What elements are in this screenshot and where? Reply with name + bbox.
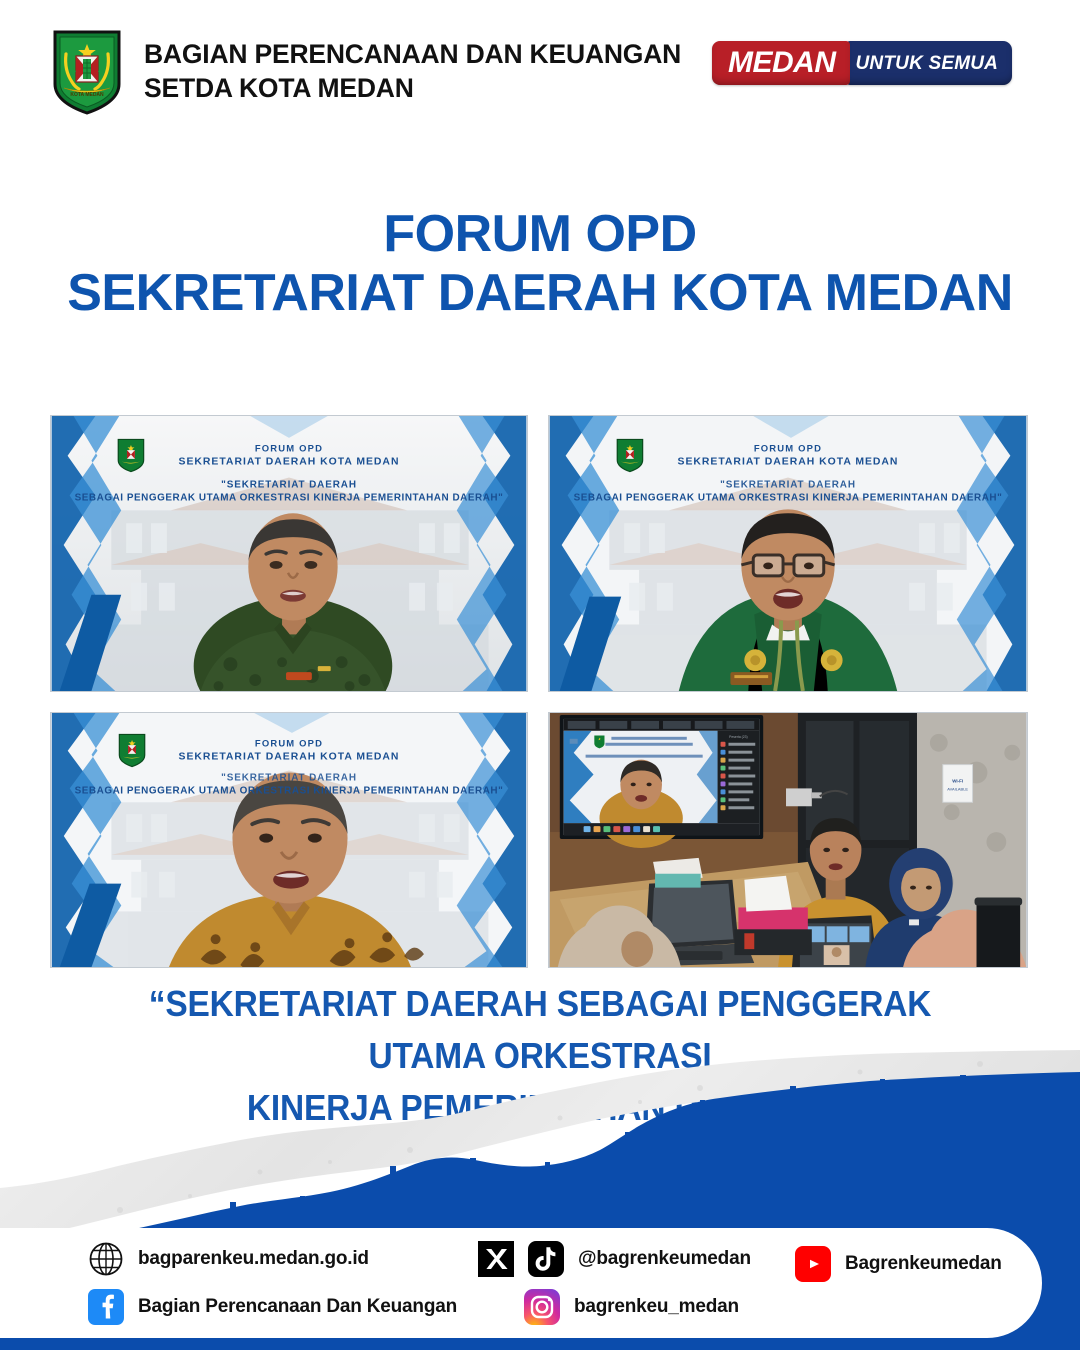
footer-facebook-row[interactable]: Bagian Perencanaan Dan Keuangan (88, 1283, 457, 1331)
photo-3-image: FORUM OPD SEKRETARIAT DAERAH KOTA MEDAN … (51, 713, 527, 967)
svg-text:KOTA MEDAN: KOTA MEDAN (70, 92, 104, 98)
brand-text: BAGIAN PERENCANAAN DAN KEUANGAN SETDA KO… (144, 38, 681, 106)
medan-logo-navy-text: UNTUK SEMUA (856, 54, 999, 73)
svg-text:WI-FI: WI-FI (952, 778, 963, 783)
svg-text:SEKRETARIAT DAERAH KOTA MEDAN: SEKRETARIAT DAERAH KOTA MEDAN (678, 457, 899, 468)
medan-city-crest-icon: KOTA MEDAN (50, 28, 124, 116)
svg-text:SEKRETARIAT DAERAH KOTA MEDAN: SEKRETARIAT DAERAH KOTA MEDAN (179, 752, 400, 763)
org-line-1: BAGIAN PERENCANAAN DAN KEUANGAN (144, 38, 681, 72)
footer-column-youtube: Bagrenkeumedan (795, 1228, 1002, 1338)
footer-youtube-row[interactable]: Bagrenkeumedan (795, 1240, 1002, 1288)
svg-text:SEBAGAI PENGGERAK UTAMA ORKEST: SEBAGAI PENGGERAK UTAMA ORKESTRASI KINER… (75, 785, 504, 796)
svg-text:FORUM OPD: FORUM OPD (255, 738, 323, 749)
photo-1-image: FORUM OPD SEKRETARIAT DAERAH KOTA MEDAN … (51, 416, 527, 691)
svg-text:"SEKRETARIAT DAERAH: "SEKRETARIAT DAERAH (221, 772, 357, 783)
facebook-icon (88, 1289, 124, 1325)
footer-column-web: bagparenkeu.medan.go.id Bagian Perencana… (88, 1228, 457, 1338)
medan-logo-navy-block: UNTUK SEMUA (846, 41, 1013, 85)
svg-text:SEBAGAI PENGGERAK UTAMA ORKEST: SEBAGAI PENGGERAK UTAMA ORKESTRASI KINER… (75, 492, 504, 503)
footer-x-tiktok-row[interactable]: @bagrenkeumedan (478, 1235, 751, 1283)
photo-4-image: WI-FI AVAILABLE (549, 713, 1027, 967)
org-line-2: SETDA KOTA MEDAN (144, 72, 681, 106)
x-twitter-icon (478, 1241, 514, 1277)
svg-text:SEKRETARIAT DAERAH KOTA MEDAN: SEKRETARIAT DAERAH KOTA MEDAN (179, 457, 400, 468)
medan-untuk-semua-logo: MEDAN UNTUK SEMUA (712, 41, 1012, 85)
photo-speaker-green-batik: FORUM OPD SEKRETARIAT DAERAH KOTA MEDAN … (50, 415, 528, 692)
svg-text:Peserta (23): Peserta (23) (729, 735, 748, 739)
svg-text:SEBAGAI PENGGERAK UTAMA ORKEST: SEBAGAI PENGGERAK UTAMA ORKESTRASI KINER… (574, 492, 1003, 503)
footer-website-label: bagparenkeu.medan.go.id (138, 1248, 369, 1270)
medan-logo-red-text: MEDAN (728, 48, 836, 78)
photo-grid: FORUM OPD SEKRETARIAT DAERAH KOTA MEDAN … (50, 415, 1028, 968)
photo-speaker-gold-batik: FORUM OPD SEKRETARIAT DAERAH KOTA MEDAN … (50, 712, 528, 968)
footer-x-tiktok-label: @bagrenkeumedan (578, 1248, 751, 1270)
page-header: KOTA MEDAN BAGIAN PERENCANAAN DAN KEUANG… (0, 0, 1080, 140)
instagram-icon (524, 1289, 560, 1325)
svg-text:FORUM OPD: FORUM OPD (754, 443, 822, 454)
photo-2-image: FORUM OPD SEKRETARIAT DAERAH KOTA MEDAN … (549, 416, 1027, 691)
svg-text:AVAILABLE: AVAILABLE (947, 786, 968, 791)
footer-contacts: bagparenkeu.medan.go.id Bagian Perencana… (0, 1228, 1080, 1338)
footer-website-row[interactable]: bagparenkeu.medan.go.id (88, 1235, 457, 1283)
title-line-1: FORUM OPD (0, 205, 1080, 264)
photo-meeting-room-zoom: WI-FI AVAILABLE (548, 712, 1028, 968)
svg-text:FORUM OPD: FORUM OPD (255, 443, 323, 454)
medan-logo-red-block: MEDAN (712, 41, 850, 85)
footer-column-social: @bagrenkeumedan bagrenkeu_medan (478, 1228, 751, 1338)
svg-text:"SEKRETARIAT DAERAH: "SEKRETARIAT DAERAH (221, 479, 357, 490)
tiktok-icon (528, 1241, 564, 1277)
svg-text:"SEKRETARIAT DAERAH: "SEKRETARIAT DAERAH (720, 479, 856, 490)
page-title: FORUM OPD SEKRETARIAT DAERAH KOTA MEDAN (0, 205, 1080, 324)
photo-speaker-glasses-green: FORUM OPD SEKRETARIAT DAERAH KOTA MEDAN … (548, 415, 1028, 692)
footer-instagram-label: bagrenkeu_medan (574, 1296, 739, 1318)
footer-youtube-label: Bagrenkeumedan (845, 1253, 1002, 1275)
title-line-2: SEKRETARIAT DAERAH KOTA MEDAN (0, 264, 1080, 323)
globe-icon (88, 1241, 124, 1277)
footer-facebook-label: Bagian Perencanaan Dan Keuangan (138, 1296, 457, 1318)
youtube-icon (795, 1246, 831, 1282)
footer-instagram-row[interactable]: bagrenkeu_medan (478, 1283, 751, 1331)
brand-block: KOTA MEDAN BAGIAN PERENCANAAN DAN KEUANG… (50, 28, 681, 116)
